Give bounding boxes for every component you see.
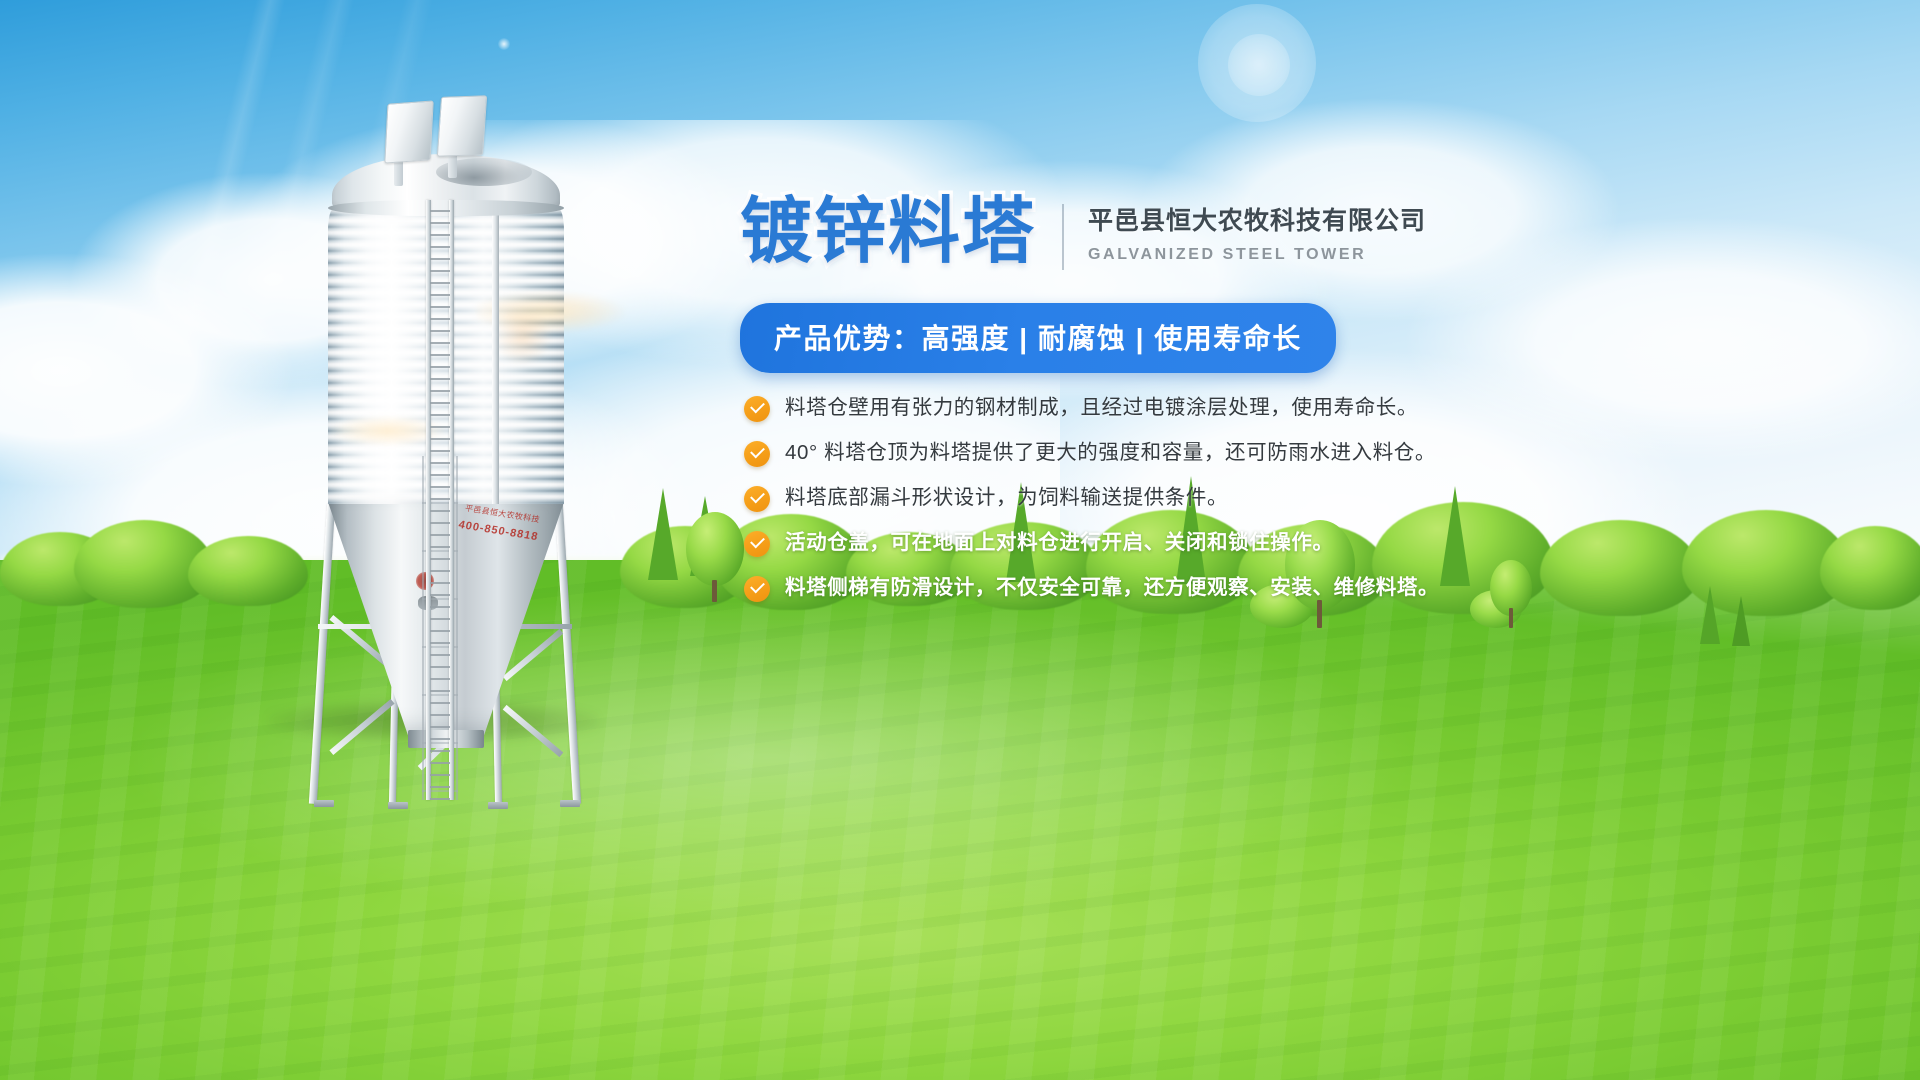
feature-text: 料塔底部漏斗形状设计，为饲料输送提供条件。 <box>785 482 1228 512</box>
promo-content: 镀锌料塔 平邑县恒大农牧科技有限公司 GALVANIZED STEEL TOWE… <box>740 0 1920 1080</box>
page-title: 镀锌料塔 <box>740 196 1036 268</box>
feature-text: 活动仓盖，可在地面上对料仓进行开启、关闭和锁住操作。 <box>785 527 1334 557</box>
feature-item-3: 料塔底部漏斗形状设计，为饲料输送提供条件。 <box>744 482 1884 527</box>
silo-foot-1 <box>314 800 334 807</box>
check-circle-icon <box>744 441 770 467</box>
feature-item-1: 料塔仓壁用有张力的钢材制成，且经过电镀涂层处理，使用寿命长。 <box>744 392 1884 437</box>
check-circle-icon <box>744 486 770 512</box>
promo-banner: 平邑县恒大农牧科技 400-850-8818 镀锌料塔 <box>0 0 1920 1080</box>
feature-item-2: 40° 料塔仓顶为料塔提供了更大的强度和容量，还可防雨水进入料仓。 <box>744 437 1884 482</box>
check-circle-icon <box>744 576 770 602</box>
feature-text: 40° 料塔仓顶为料塔提供了更大的强度和容量，还可防雨水进入料仓。 <box>785 437 1436 467</box>
advantage-badge: 产品优势：高强度 | 耐腐蚀 | 使用寿命长 <box>740 303 1336 373</box>
feature-item-5: 料塔侧梯有防滑设计，不仅安全可靠，还方便观察、安装、维修料塔。 <box>744 572 1884 617</box>
silo-foot-4 <box>560 800 580 807</box>
headline-row: 镀锌料塔 平邑县恒大农牧科技有限公司 GALVANIZED STEEL TOWE… <box>740 196 1426 270</box>
feature-text: 料塔仓壁用有张力的钢材制成，且经过电镀涂层处理，使用寿命长。 <box>785 392 1418 422</box>
company-subtitle: GALVANIZED STEEL TOWER <box>1088 246 1426 264</box>
company-name: 平邑县恒大农牧科技有限公司 <box>1088 206 1426 237</box>
check-circle-icon <box>744 531 770 557</box>
galvanized-feed-tower: 平邑县恒大农牧科技 400-850-8818 <box>296 96 596 746</box>
silo-foot-2 <box>388 802 408 809</box>
feature-list: 料塔仓壁用有张力的钢材制成，且经过电镀涂层处理，使用寿命长。 40° 料塔仓顶为… <box>744 392 1884 617</box>
silo-hatch-lid-1 <box>384 100 433 163</box>
feature-item-4: 活动仓盖，可在地面上对料仓进行开启、关闭和锁住操作。 <box>744 527 1884 572</box>
lens-flare-dot-icon <box>498 38 510 50</box>
silo-foot-3 <box>488 802 508 809</box>
company-block: 平邑县恒大农牧科技有限公司 GALVANIZED STEEL TOWER <box>1088 196 1426 264</box>
silo-vertical-stile <box>492 204 499 504</box>
check-circle-icon <box>744 396 770 422</box>
feature-text: 料塔侧梯有防滑设计，不仅安全可靠，还方便观察、安装、维修料塔。 <box>785 572 1439 602</box>
tree-trunk-left <box>712 580 717 602</box>
title-divider <box>1062 204 1064 270</box>
foreground-tree-left <box>686 512 744 586</box>
silo-hatch-lid-2 <box>437 95 487 157</box>
ladder-rungs <box>430 200 450 800</box>
silo-side-ladder <box>426 200 454 800</box>
